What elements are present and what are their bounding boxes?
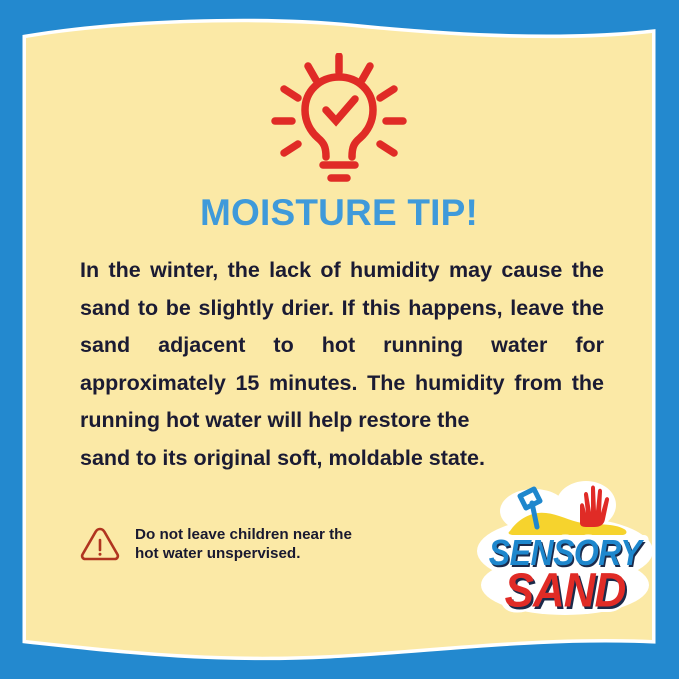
lightbulb-check-icon [269,53,409,183]
warning-note-text: Do not leave children near the hot water… [135,525,352,564]
bulb-ray-upper-left [308,66,316,80]
bulb-ray-upper-right [362,66,370,80]
warning-triangle-icon [78,524,122,564]
logo-word-sand-text: SAND [505,563,626,616]
bulb-ray-lower-left [284,144,298,153]
body-paragraph-main: In the winter, the lack of humidity may … [80,258,604,432]
body-paragraph-lastline: sand to its original soft, moldable stat… [80,440,604,478]
sensory-sand-logo: SENSORY SENSORY SENSORY SAND SAND SAND [474,479,656,616]
card-content: MOISTURE TIP! In the winter, the lack of… [26,26,652,646]
page-title: MOISTURE TIP! [26,194,652,231]
bulb-checkmark [326,99,355,121]
bulb-ray-left [284,89,298,98]
warning-exclamation-dot [99,553,102,556]
bulb-ray-right [380,89,394,98]
body-paragraph: In the winter, the lack of humidity may … [80,252,604,477]
bulb-ray-lower-right [380,144,394,153]
logo-word-sand: SAND SAND SAND [505,563,628,616]
warning-note: Do not leave children near the hot water… [78,524,352,564]
promo-card: MOISTURE TIP! In the winter, the lack of… [0,0,679,679]
